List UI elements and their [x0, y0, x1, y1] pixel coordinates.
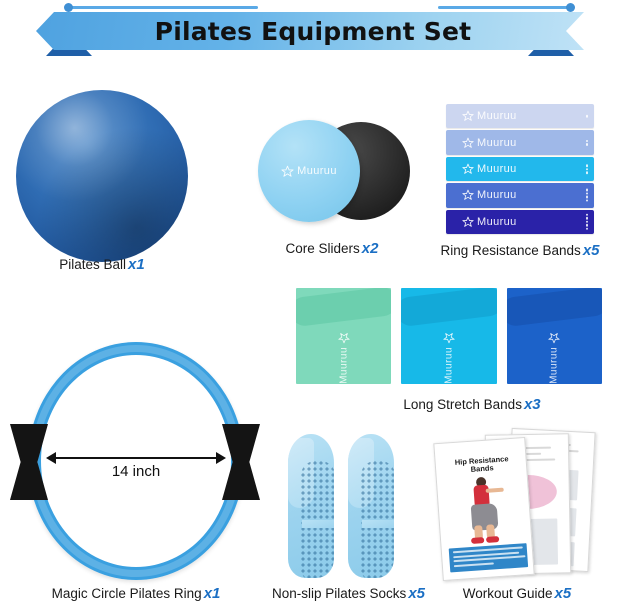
- page-title: Pilates Equipment Set: [149, 17, 472, 46]
- sock-sole: [348, 434, 394, 578]
- product-image-magic-circle-pilates-ring: 14 inch: [10, 340, 262, 582]
- level-dots: [586, 115, 589, 118]
- caption-qty: x1: [204, 585, 221, 602]
- dimension-line: [51, 457, 221, 459]
- brand-name: Muuruu: [477, 110, 517, 122]
- star-icon: [462, 216, 474, 228]
- caption-qty: x2: [362, 240, 379, 257]
- ribbon-body: Pilates Equipment Set: [36, 12, 584, 50]
- brand-logo: Muuruu: [545, 332, 563, 384]
- resistance-level-indicator: [586, 189, 589, 202]
- resistance-level-indicator: [586, 214, 589, 231]
- resistance-band-3: Muuruu: [446, 157, 594, 181]
- brand-logo: Muuruu: [462, 189, 517, 201]
- brand-name: Muuruu: [338, 347, 349, 384]
- banner-dot-right: [566, 3, 575, 12]
- caption-ring-resistance-bands: Ring Resistance Bandsx5: [424, 242, 616, 259]
- resistance-band-5: Muuruu: [446, 210, 594, 234]
- caption-qty: x1: [128, 256, 145, 273]
- star-icon: [462, 137, 474, 149]
- brand-logo: Muuruu: [440, 332, 458, 384]
- star-icon: [335, 332, 353, 344]
- band-roll: [296, 288, 391, 327]
- caption-core-sliders: Core Slidersx2: [248, 240, 416, 257]
- brand-name: Muuruu: [477, 189, 517, 201]
- resistance-band-1: Muuruu: [446, 104, 594, 128]
- caption-qty: x5: [408, 585, 425, 602]
- resistance-level-indicator: [586, 140, 589, 146]
- star-icon: [281, 165, 294, 178]
- guide-note-box: [449, 543, 528, 572]
- band-roll: [507, 288, 602, 327]
- ring-dimension-label: 14 inch: [46, 463, 226, 480]
- brand-name: Muuruu: [549, 347, 560, 384]
- brand-logo: Muuruu: [462, 137, 517, 149]
- brand-name: Muuruu: [477, 216, 517, 228]
- stretch-band-3: Muuruu: [507, 288, 602, 384]
- star-icon: [545, 332, 563, 344]
- figure-arm: [486, 488, 504, 493]
- resistance-level-indicator: [586, 115, 589, 118]
- caption-label: Pilates Ball: [59, 257, 126, 272]
- caption-label: Ring Resistance Bands: [440, 243, 580, 258]
- caption-label: Core Sliders: [286, 241, 360, 256]
- brand-name: Muuruu: [477, 163, 517, 175]
- resistance-band-2: Muuruu: [446, 130, 594, 154]
- brand-name: Muuruu: [443, 347, 454, 384]
- star-icon: [462, 189, 474, 201]
- product-image-core-slider-blue: Muuruu: [258, 120, 360, 222]
- banner-dot-left: [64, 3, 73, 12]
- sock-grip-pattern: [300, 460, 334, 578]
- level-dots: [586, 214, 589, 231]
- product-image-non-slip-pilates-socks: [282, 424, 406, 580]
- level-dots: [586, 164, 589, 174]
- caption-label: Non-slip Pilates Socks: [272, 586, 406, 601]
- resistance-band-4: Muuruu: [446, 183, 594, 207]
- caption-qty: x3: [524, 396, 541, 413]
- stretch-band-1: Muuruu: [296, 288, 391, 384]
- figure-shoe-right: [486, 536, 499, 543]
- caption-pilates-ball: Pilates Ballx1: [16, 256, 188, 273]
- brand-name: Muuruu: [477, 137, 517, 149]
- header-banner: Pilates Equipment Set: [0, 0, 620, 58]
- star-icon: [462, 110, 474, 122]
- brand-name: Muuruu: [297, 165, 337, 177]
- caption-workout-guide: Workout Guidex5: [432, 585, 602, 602]
- sock-arch-gap: [362, 520, 394, 528]
- banner-rule-left: [68, 6, 258, 9]
- brand-logo: Muuruu: [462, 216, 517, 228]
- stretch-band-2: Muuruu: [401, 288, 496, 384]
- brand-logo: Muuruu: [335, 332, 353, 384]
- product-image-long-stretch-bands: Muuruu Muuruu Muuruu: [296, 288, 602, 384]
- caption-label: Magic Circle Pilates Ring: [52, 586, 202, 601]
- banner-rule-right: [438, 6, 568, 9]
- caption-magic-circle-pilates-ring: Magic Circle Pilates Ringx1: [10, 585, 262, 602]
- product-image-ring-resistance-bands: Muuruu Muuruu Muuruu: [446, 104, 594, 234]
- sock-left: [282, 424, 338, 580]
- level-dots: [586, 140, 589, 146]
- star-icon: [462, 163, 474, 175]
- star-icon: [440, 332, 458, 344]
- sock-right: [342, 424, 398, 580]
- guide-exercise-illustration: [463, 475, 510, 544]
- sock-grip-pattern: [360, 460, 394, 578]
- caption-long-stretch-bands: Long Stretch Bandsx3: [372, 396, 572, 413]
- brand-logo: Muuruu: [281, 165, 337, 178]
- caption-qty: x5: [583, 242, 600, 259]
- brand-logo: Muuruu: [462, 110, 517, 122]
- guide-title: Hip Resistance Bands: [442, 454, 521, 476]
- ring-dimension: 14 inch: [46, 452, 226, 486]
- caption-label: Workout Guide: [463, 586, 553, 601]
- resistance-level-indicator: [586, 164, 589, 174]
- caption-qty: x5: [555, 585, 572, 602]
- level-dots: [586, 189, 589, 202]
- guide-sheet-front: Hip Resistance Bands: [433, 437, 534, 581]
- caption-non-slip-pilates-socks: Non-slip Pilates Socksx5: [272, 585, 418, 602]
- caption-label: Long Stretch Bands: [403, 397, 522, 412]
- product-image-pilates-ball: 9.8 inch: [16, 90, 188, 262]
- figure-shoe-left: [471, 537, 484, 544]
- band-roll: [401, 288, 496, 327]
- product-image-workout-guide: Hip Resistance Bands: [432, 428, 602, 580]
- sock-arch-gap: [302, 520, 334, 528]
- sock-sole: [288, 434, 334, 578]
- brand-logo: Muuruu: [462, 163, 517, 175]
